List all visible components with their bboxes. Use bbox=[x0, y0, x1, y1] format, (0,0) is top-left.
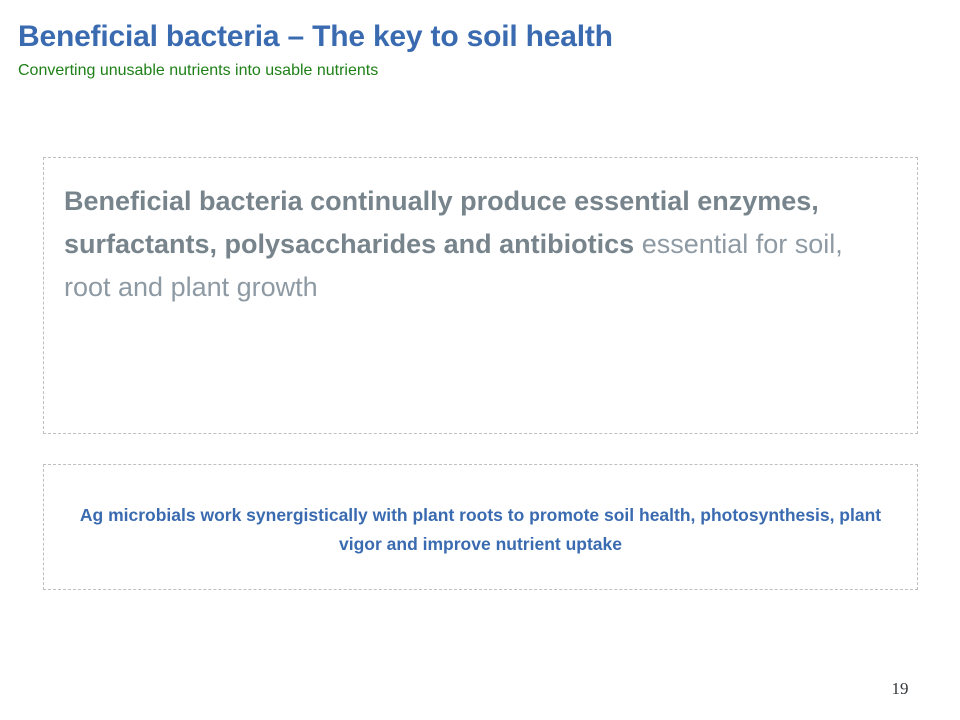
page-title: Beneficial bacteria – The key to soil he… bbox=[18, 20, 918, 54]
slide-canvas: Beneficial bacteria – The key to soil he… bbox=[0, 0, 960, 720]
secondary-statement: Ag microbials work synergistically with … bbox=[74, 501, 887, 559]
primary-content-box: Beneficial bacteria continually produce … bbox=[43, 157, 918, 434]
primary-statement: Beneficial bacteria continually produce … bbox=[64, 180, 894, 309]
page-subtitle: Converting unusable nutrients into usabl… bbox=[18, 61, 918, 81]
page-number: 19 bbox=[880, 679, 920, 699]
secondary-content-box: Ag microbials work synergistically with … bbox=[43, 464, 918, 590]
